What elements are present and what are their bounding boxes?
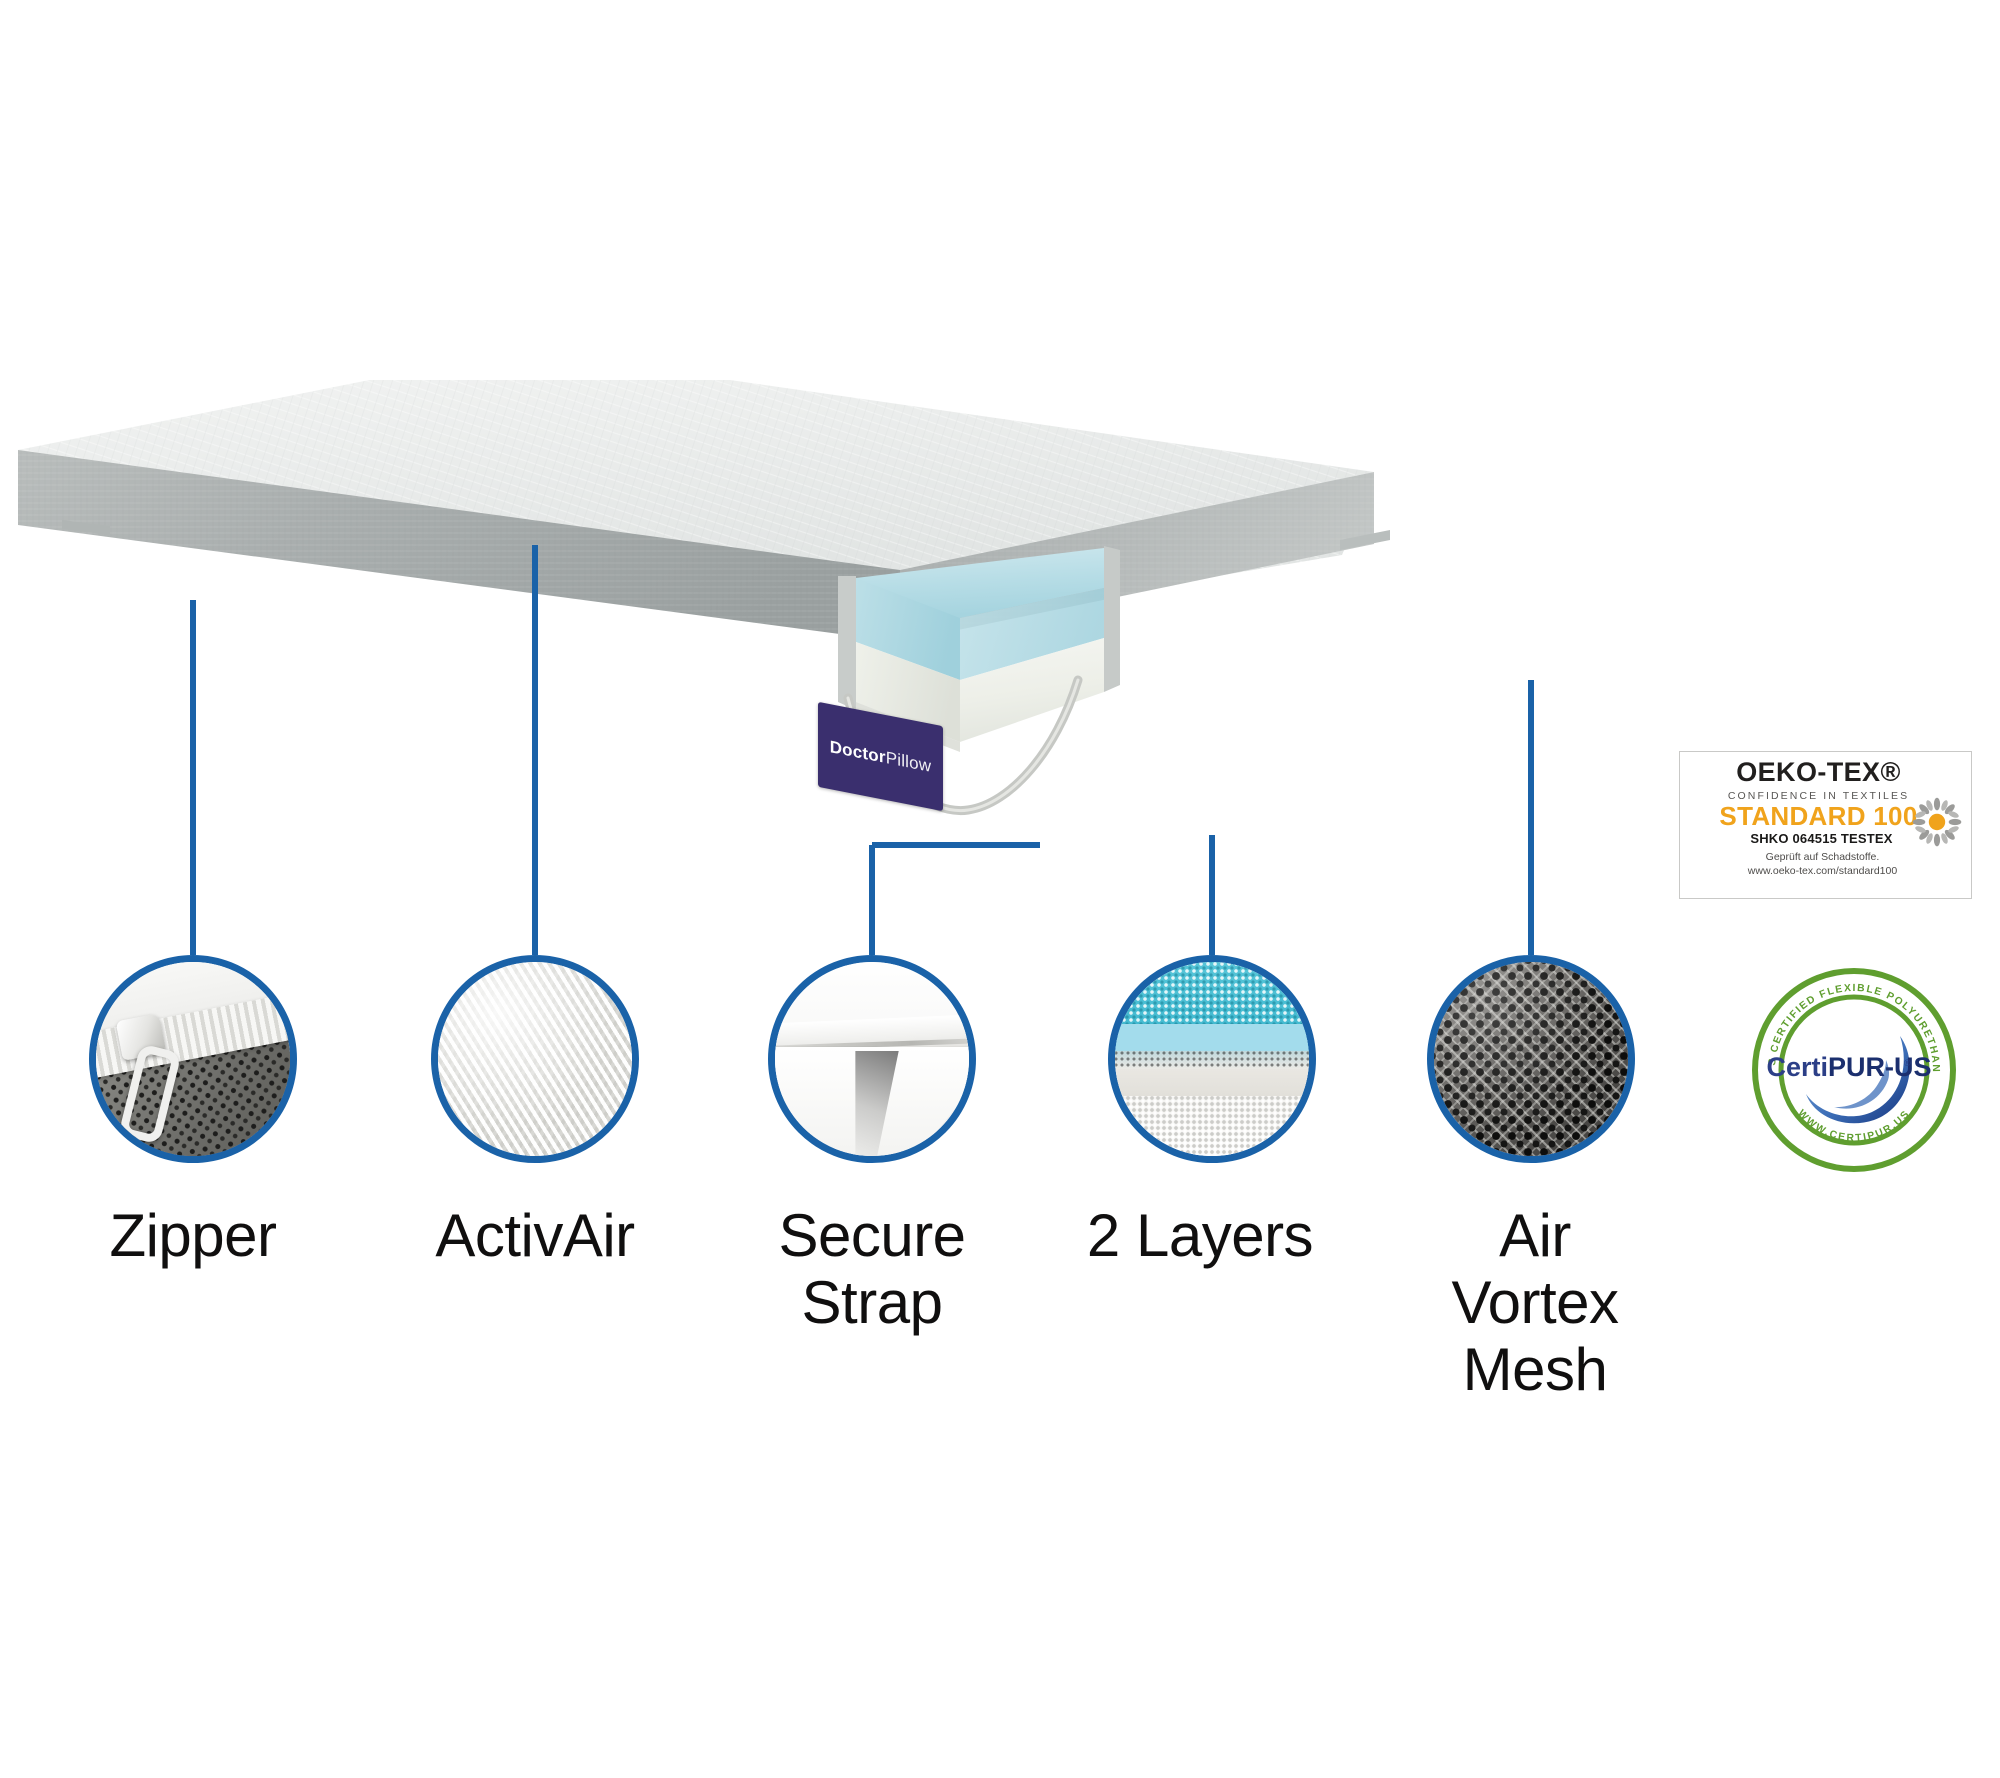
secure-strap-swatch [768,955,976,1163]
activair-swatch [431,955,639,1163]
feature-label-secure-strap: Secure Strap [722,1202,1022,1336]
callout-circle-two-layers[interactable] [1108,955,1316,1163]
callout-two-layers[interactable] [1108,955,1316,1163]
certipur-wordmark: CertiPUR-US ® [1766,1052,1931,1082]
product-infographic: DoctorPillow [0,0,2000,1778]
feature-label-air-vortex-mesh: Air Vortex Mesh [1390,1202,1680,1404]
feature-label-zipper: Zipper [33,1202,353,1269]
oeko-tex-fineprint-1: Geprüft auf Schadstoffe. [1674,850,1971,864]
callout-zipper[interactable] [89,955,297,1163]
callout-secure-strap[interactable] [768,955,976,1163]
brand-word-doctor: Doctor [830,737,886,767]
callout-circle-zipper[interactable] [89,955,297,1163]
certipur-us-badge: CONTAINS CERTIFIED FLEXIBLE POLYURETHANE… [1752,968,1956,1172]
svg-text:®: ® [1904,1058,1911,1068]
oeko-tex-flower-icon [1912,797,1962,847]
oeko-tex-badge: OEKO-TEX® CONFIDENCE IN TEXTILES STANDAR… [1679,751,1972,899]
callout-activair[interactable] [431,955,639,1163]
oeko-tex-fineprint-2: www.oeko-tex.com/standard100 [1674,864,1971,878]
two-layers-swatch [1108,955,1316,1163]
callout-circle-activair[interactable] [431,955,639,1163]
mattress-illustration [0,380,1760,940]
feature-label-two-layers: 2 Layers [1040,1202,1360,1269]
brand-word-pillow: Pillow [886,748,932,776]
callout-circle-air-vortex-mesh[interactable] [1427,955,1635,1163]
oeko-tex-title: OEKO-TEX® [1666,759,1971,786]
brand-tag-text: DoctorPillow [830,737,932,777]
feature-label-activair: ActivAir [385,1202,685,1269]
callout-air-vortex-mesh[interactable] [1427,955,1635,1163]
callout-circle-secure-strap[interactable] [768,955,976,1163]
zipper-swatch [89,955,297,1163]
air-vortex-mesh-swatch [1427,955,1635,1163]
